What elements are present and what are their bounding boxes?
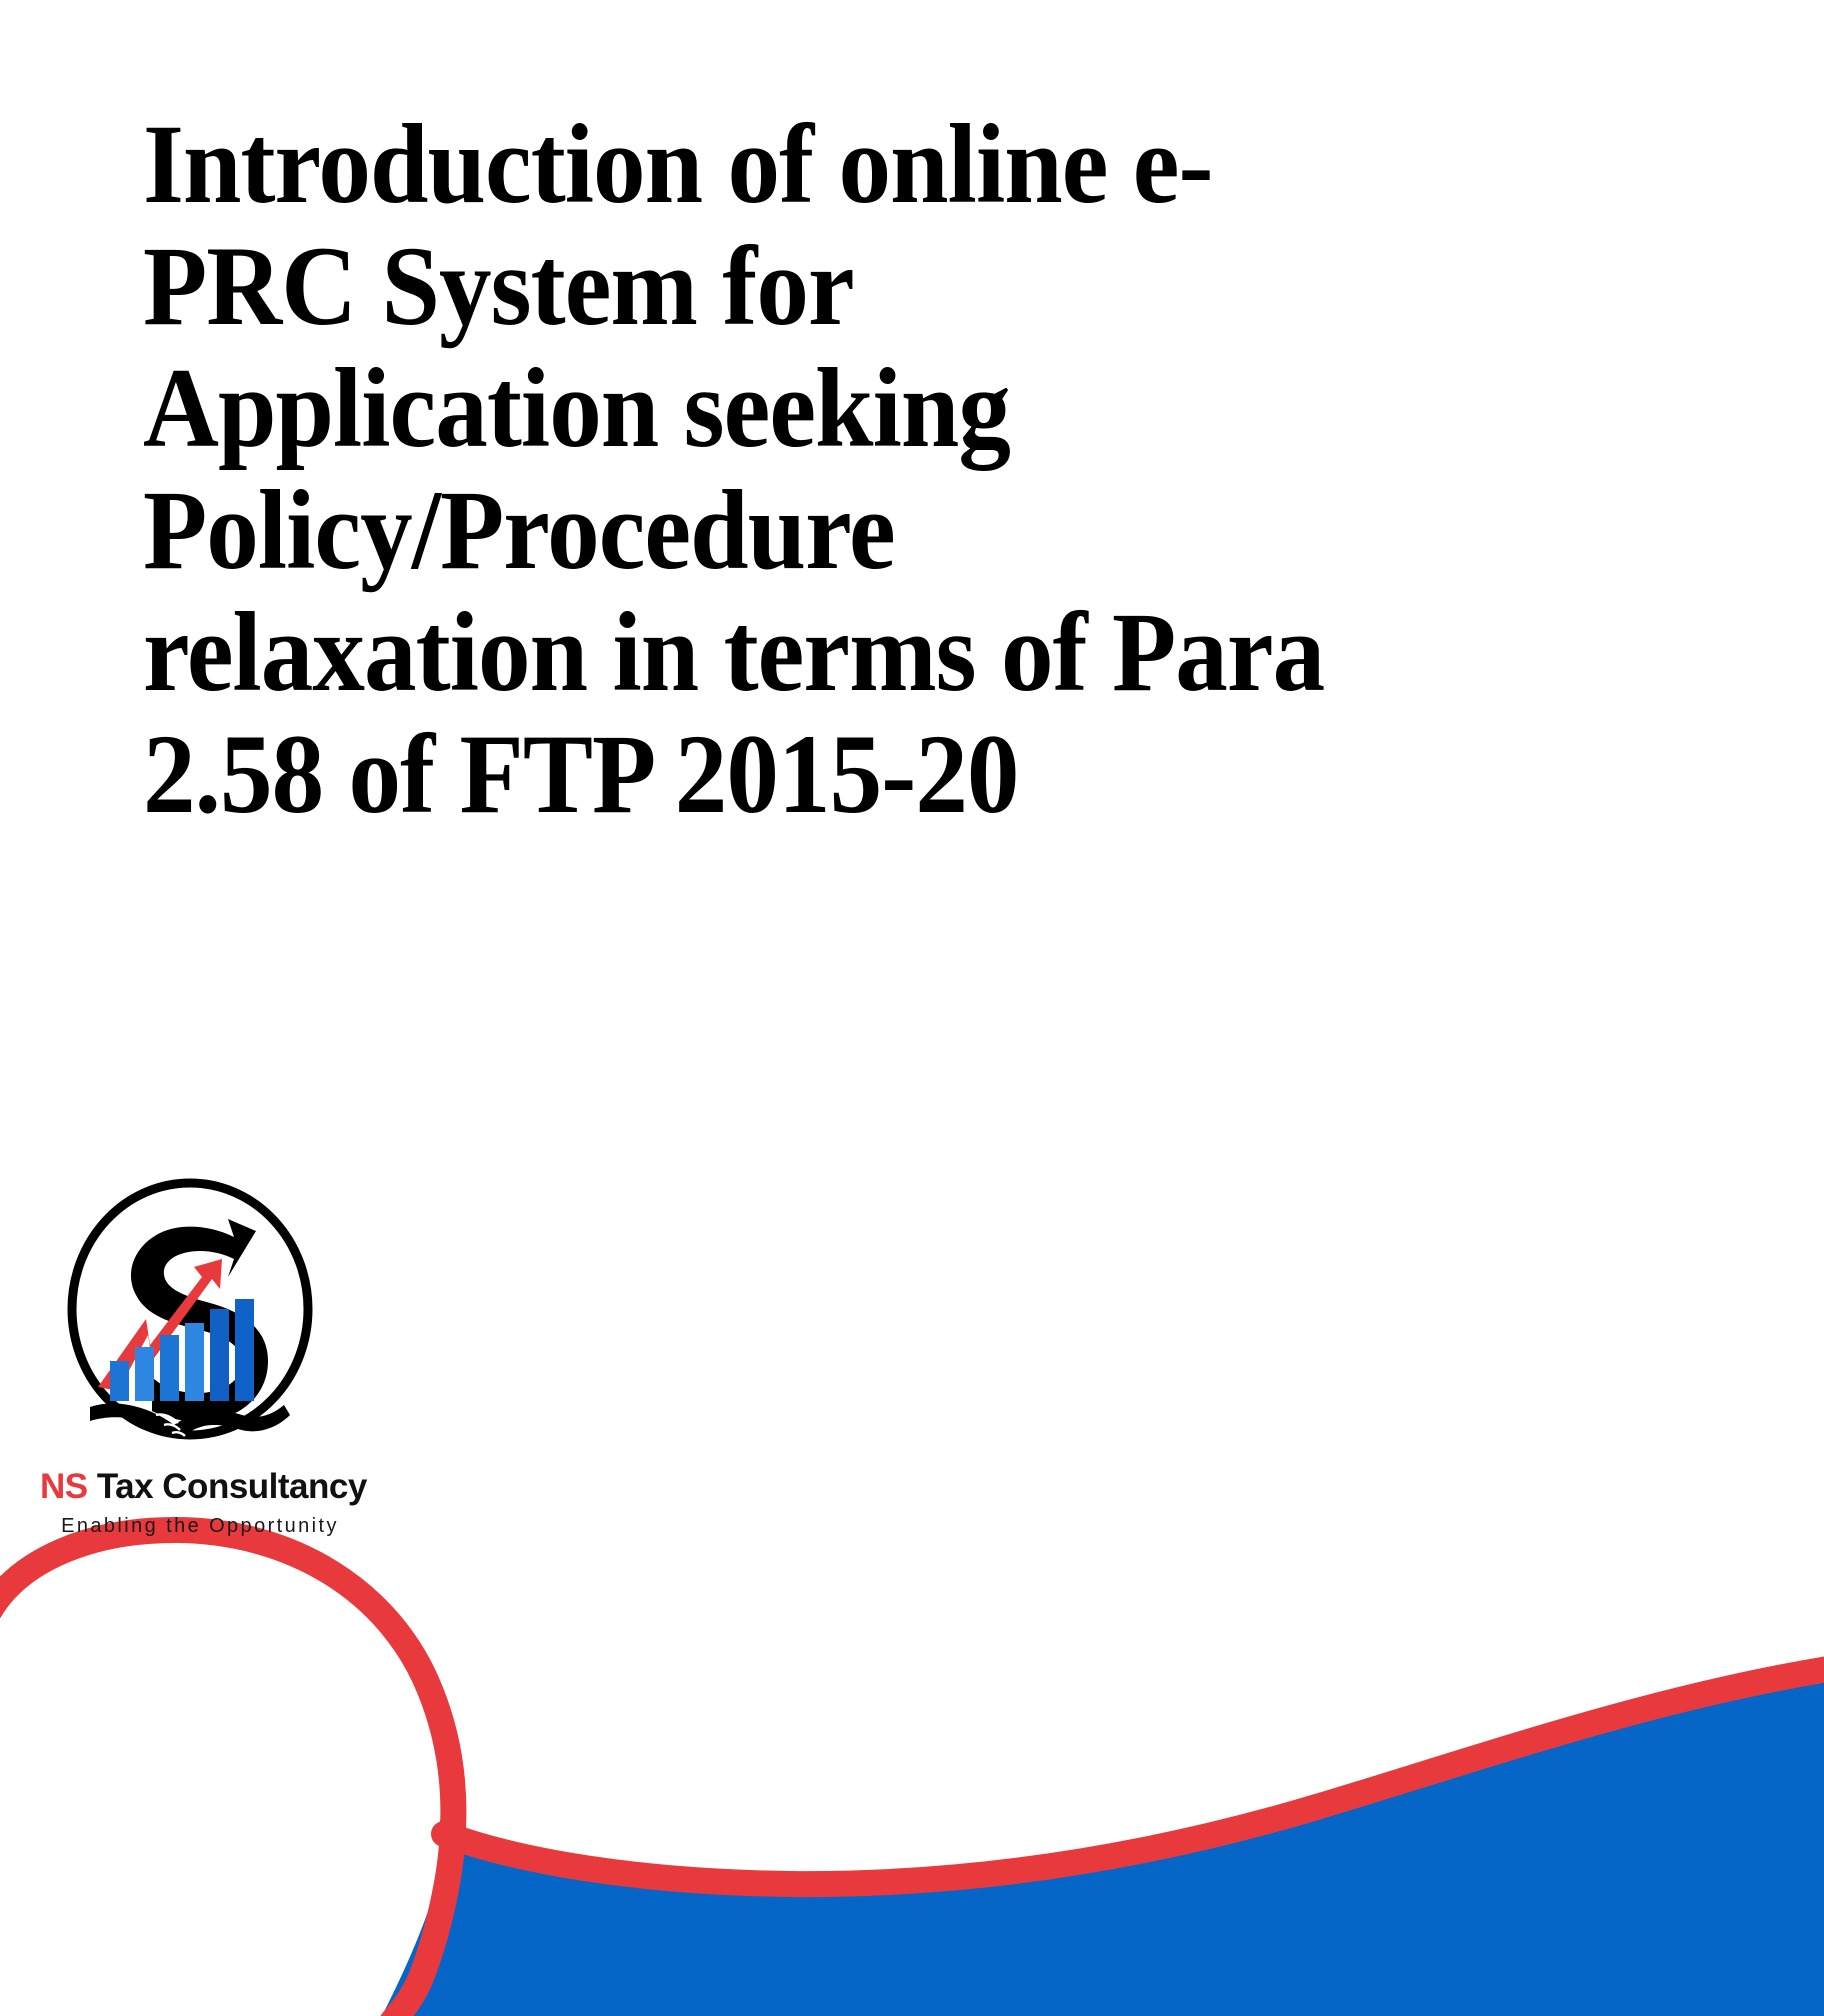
title-line-1: Introduction of online e-	[143, 104, 1296, 226]
title-line-4: Policy/Procedure	[143, 470, 1296, 592]
logo-tagline: Enabling the Opportunity	[40, 1515, 360, 1538]
banner-tagline: Enabling the Opportunity	[505, 1338, 1765, 1442]
logo-mark-icon	[60, 1175, 320, 1443]
logo-bar-4	[185, 1323, 204, 1401]
title-line-2: PRC System for	[143, 226, 1296, 348]
slide-canvas: Introduction of online e- PRC System for…	[0, 0, 1824, 2016]
logo-wordmark-rest: Tax Consultancy	[88, 1467, 367, 1506]
page-title: Introduction of online e- PRC System for…	[143, 104, 1383, 836]
title-line-5: relaxation in terms of Para	[143, 592, 1296, 714]
title-line-3: Application seeking	[143, 348, 1296, 470]
footer-red-ribbon	[0, 1530, 453, 2016]
logo-wordmark: NS Tax Consultancy	[40, 1467, 360, 1507]
logo-bar-2	[135, 1347, 154, 1401]
logo: NS Tax Consultancy Enabling the Opportun…	[40, 1175, 340, 1575]
logo-bar-6	[235, 1299, 254, 1401]
logo-bar-1	[110, 1361, 129, 1401]
title-line-6: 2.58 of FTP 2015-20	[143, 714, 1296, 836]
logo-bar-5	[210, 1309, 229, 1401]
logo-wordmark-ns: NS	[40, 1467, 88, 1506]
logo-bar-3	[160, 1335, 179, 1401]
